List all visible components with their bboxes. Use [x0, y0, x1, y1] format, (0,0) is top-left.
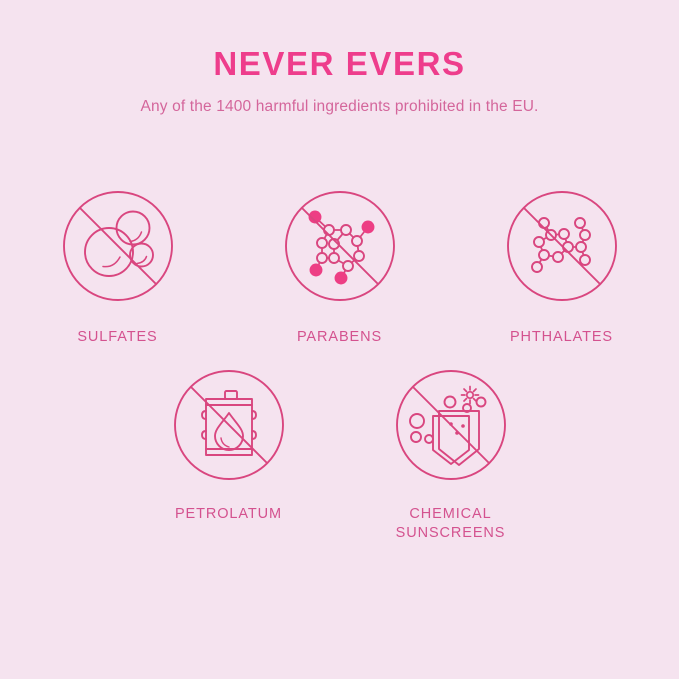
never-evers-grid: SULFATES — [0, 190, 679, 543]
grid-item-chemical-sunscreens: CHEMICAL SUNSCREENS — [378, 369, 524, 543]
grid-item-label: SULFATES — [77, 328, 157, 347]
header: NEVER EVERS Any of the 1400 harmful ingr… — [0, 44, 679, 118]
no-petrolatum-barrel-icon — [173, 369, 285, 481]
grid-item-phthalates: PHTHALATES — [489, 190, 635, 347]
no-parabens-molecule-icon — [284, 190, 396, 302]
grid-row-bottom: PETROLATUM — [0, 369, 679, 543]
grid-item-sulfates: SULFATES — [45, 190, 191, 347]
grid-item-label: CHEMICAL SUNSCREENS — [396, 505, 506, 543]
never-evers-infographic: NEVER EVERS Any of the 1400 harmful ingr… — [0, 0, 679, 679]
page-subtitle: Any of the 1400 harmful ingredients proh… — [0, 84, 679, 118]
grid-row-top: SULFATES — [0, 190, 679, 347]
grid-item-label: PARABENS — [297, 328, 382, 347]
no-chemical-sunscreens-bottle-icon — [395, 369, 507, 481]
grid-item-label: PETROLATUM — [175, 505, 282, 524]
grid-item-label: PHTHALATES — [510, 328, 613, 347]
no-sulfates-bubbles-icon — [62, 190, 174, 302]
page-title: NEVER EVERS — [0, 44, 679, 84]
grid-item-petrolatum: PETROLATUM — [156, 369, 302, 524]
no-phthalates-molecule-icon — [506, 190, 618, 302]
grid-item-parabens: PARABENS — [267, 190, 413, 347]
